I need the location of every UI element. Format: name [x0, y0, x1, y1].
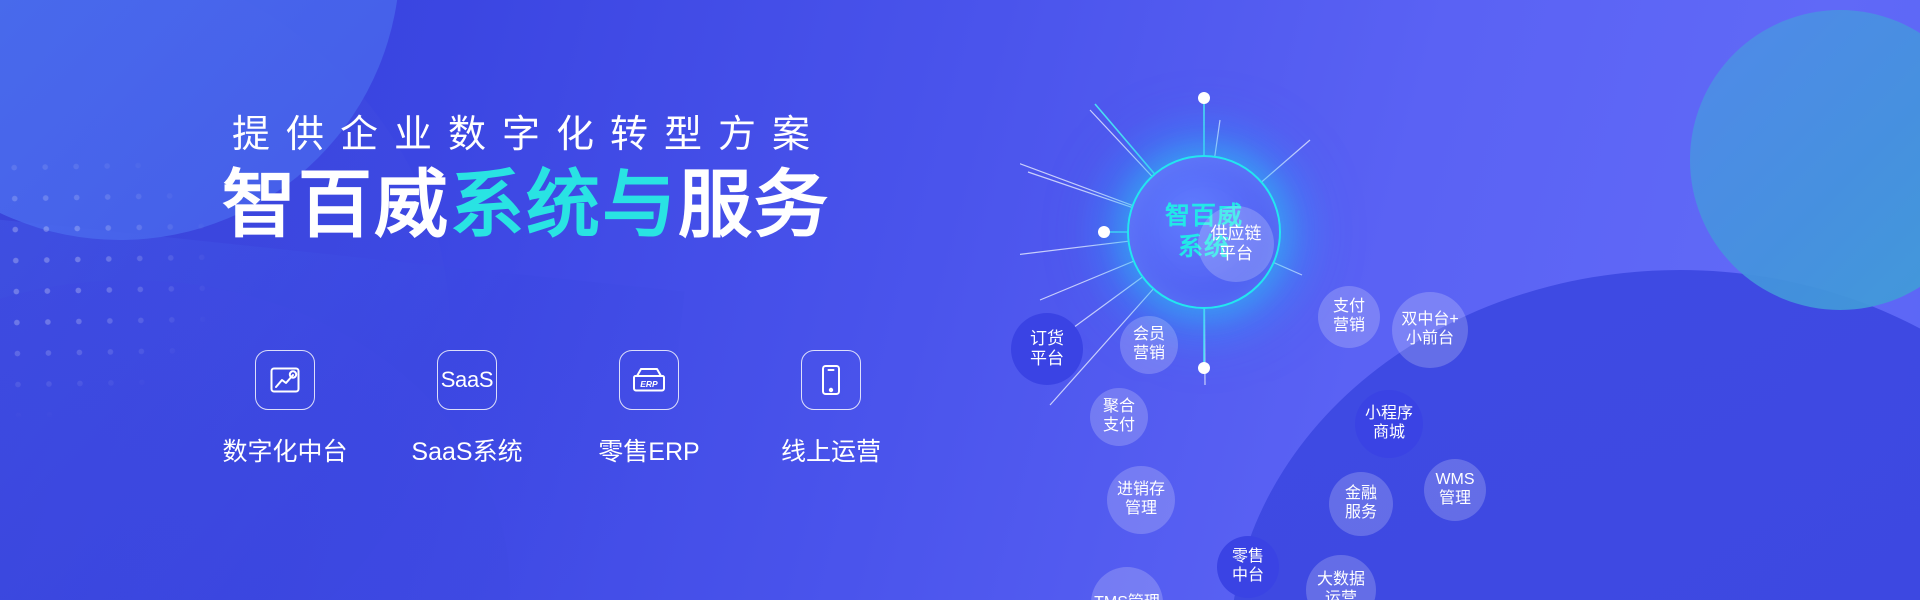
feature-label: 数字化中台 — [222, 432, 348, 468]
node-label-line-2: 管理 — [1439, 490, 1471, 509]
diagram-node-member-marketing[interactable]: 会员营销 — [1120, 316, 1178, 374]
hero-kicker: 提供企业数字化转型方案 — [232, 103, 826, 158]
node-label-line-1: 订货 — [1030, 329, 1064, 349]
node-label-line-1: 供应链 — [1211, 224, 1262, 244]
node-label-line-1: 支付 — [1333, 298, 1365, 317]
diagram-node-aggregate-payment[interactable]: 聚合支付 — [1090, 388, 1148, 446]
node-label-line-2: 平台 — [1219, 244, 1253, 264]
chart-image-icon — [255, 350, 315, 410]
headline-part-1: 智百威 — [222, 163, 450, 246]
erp-box-icon: ERP — [619, 350, 679, 410]
hero-banner: 提供企业数字化转型方案 智百威系统与服务 数字化中台 SaaS — [0, 0, 1920, 600]
diagram-node-financial-services[interactable]: 金融服务 — [1329, 472, 1393, 536]
feature-list: 数字化中台 SaaS SaaS系统 ERP 零售ERP — [222, 350, 894, 468]
node-label-line-1: 聚合 — [1103, 398, 1135, 417]
feature-item-saas[interactable]: SaaS SaaS系统 — [404, 350, 530, 468]
node-label-line-1: 小程序 — [1365, 405, 1413, 424]
hero-text-panel: 提供企业数字化转型方案 智百威系统与服务 数字化中台 SaaS — [0, 0, 1020, 600]
connector-dot-top — [1198, 92, 1210, 104]
diagram-node-purchase-sales-inventory[interactable]: 进销存管理 — [1107, 466, 1175, 534]
diagram-node-wms-management[interactable]: WMS管理 — [1424, 459, 1486, 521]
node-label-line-2: 营销 — [1333, 317, 1365, 336]
feature-item-online-operations[interactable]: 线上运营 — [768, 350, 894, 468]
node-label-line-2: 平台 — [1030, 349, 1064, 369]
node-label-line-1: 金融 — [1345, 485, 1377, 504]
node-label-line-1: 会员 — [1133, 326, 1165, 345]
diagram-node-payment-marketing[interactable]: 支付营销 — [1318, 286, 1380, 348]
feature-label: SaaS系统 — [404, 432, 530, 468]
connector-dot-bottom — [1198, 362, 1210, 374]
node-label-line-2: 中台 — [1232, 567, 1264, 586]
diagram-node-dual-midend-frontend[interactable]: 双中台+小前台 — [1392, 292, 1468, 368]
node-label-line-1: TMS管理 — [1094, 594, 1160, 600]
connector-dot-left — [1098, 226, 1110, 238]
node-label-line-2: 小前台 — [1406, 330, 1454, 349]
node-label-line-2: 支付 — [1103, 417, 1135, 436]
node-label-line-1: 进销存 — [1117, 481, 1165, 500]
feature-item-digital-midend[interactable]: 数字化中台 — [222, 350, 348, 468]
saas-text-icon: SaaS — [437, 350, 497, 410]
saas-icon-text: SaaS — [441, 367, 494, 393]
node-label-line-1: 双中台+ — [1401, 311, 1458, 330]
headline-part-3: 服务 — [678, 163, 830, 246]
node-label-line-1: WMS — [1435, 471, 1474, 490]
node-label-line-2: 运营 — [1325, 590, 1357, 600]
node-label-line-1: 零售 — [1232, 548, 1264, 567]
feature-item-retail-erp[interactable]: ERP 零售ERP — [586, 350, 712, 468]
svg-text:ERP: ERP — [640, 379, 658, 389]
node-label-line-1: 大数据 — [1317, 571, 1365, 590]
diagram-node-supply-chain-platform[interactable]: 供应链平台 — [1198, 206, 1274, 282]
node-label-line-2: 服务 — [1345, 504, 1377, 523]
diagram-node-retail-midend[interactable]: 零售中台 — [1217, 536, 1279, 598]
system-network-diagram: 智百威 系统 供应链平台支付营销双中台+小前台小程序商城WMS管理金融服务大数据… — [1020, 0, 1920, 600]
mobile-phone-icon — [801, 350, 861, 410]
diagram-node-order-platform[interactable]: 订货平台 — [1011, 313, 1083, 385]
headline-part-2: 系统与 — [450, 163, 678, 246]
diagram-node-mini-program-mall[interactable]: 小程序商城 — [1355, 390, 1423, 458]
node-label-line-2: 商城 — [1373, 424, 1405, 443]
node-label-line-2: 营销 — [1133, 345, 1165, 364]
feature-label: 线上运营 — [768, 432, 894, 468]
feature-label: 零售ERP — [586, 432, 712, 468]
node-label-line-2: 管理 — [1125, 500, 1157, 519]
hero-headline: 智百威系统与服务 — [222, 168, 830, 242]
